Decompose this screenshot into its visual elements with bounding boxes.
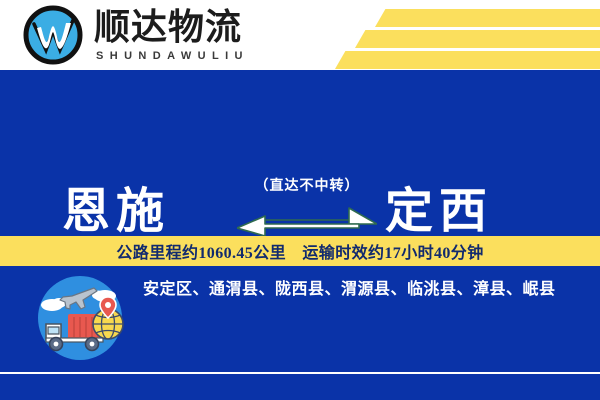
route-info-bar: 公路里程约1060.45公里 运输时效约17小时40分钟 [0, 236, 600, 266]
coverage-section: 安定区、通渭县、陇西县、渭源县、临洮县、漳县、岷县 [0, 266, 600, 372]
circle-swoosh-logo-icon [22, 4, 84, 66]
origin-city: 恩施 [62, 188, 170, 236]
bidirectional-arrow-icon [237, 204, 377, 240]
stripe-3 [335, 51, 600, 69]
logistics-truck-plane-globe-icon [28, 274, 132, 362]
stripe-1 [375, 9, 600, 27]
coverage-areas-text: 安定区、通渭县、陇西县、渭源县、临洮县、漳县、岷县 [143, 278, 575, 303]
brand-name-cn: 顺达物流 [94, 9, 249, 45]
route-section: 恩施 （直达不中转） 【往返运输】 定西 [0, 70, 600, 236]
destination-city: 定西 [385, 188, 493, 236]
stripe-2 [355, 30, 600, 48]
distance-and-duration-text: 公路里程约1060.45公里 运输时效约17小时40分钟 [116, 239, 483, 263]
direct-note-label: （直达不中转） [232, 180, 382, 194]
brand-wordmark: 顺达物流 SHUNDAWULIU [94, 9, 249, 62]
brand-logo-block: 顺达物流 SHUNDAWULIU [22, 4, 249, 66]
banner-header: 顺达物流 SHUNDAWULIU [0, 0, 600, 70]
header-stripes-decoration [310, 0, 600, 70]
banner-footer [0, 374, 600, 400]
brand-name-en: SHUNDAWULIU [96, 51, 249, 62]
logistics-route-banner: 顺达物流 SHUNDAWULIU 恩施 （直达不中转） 【往返运输】 [0, 0, 600, 400]
